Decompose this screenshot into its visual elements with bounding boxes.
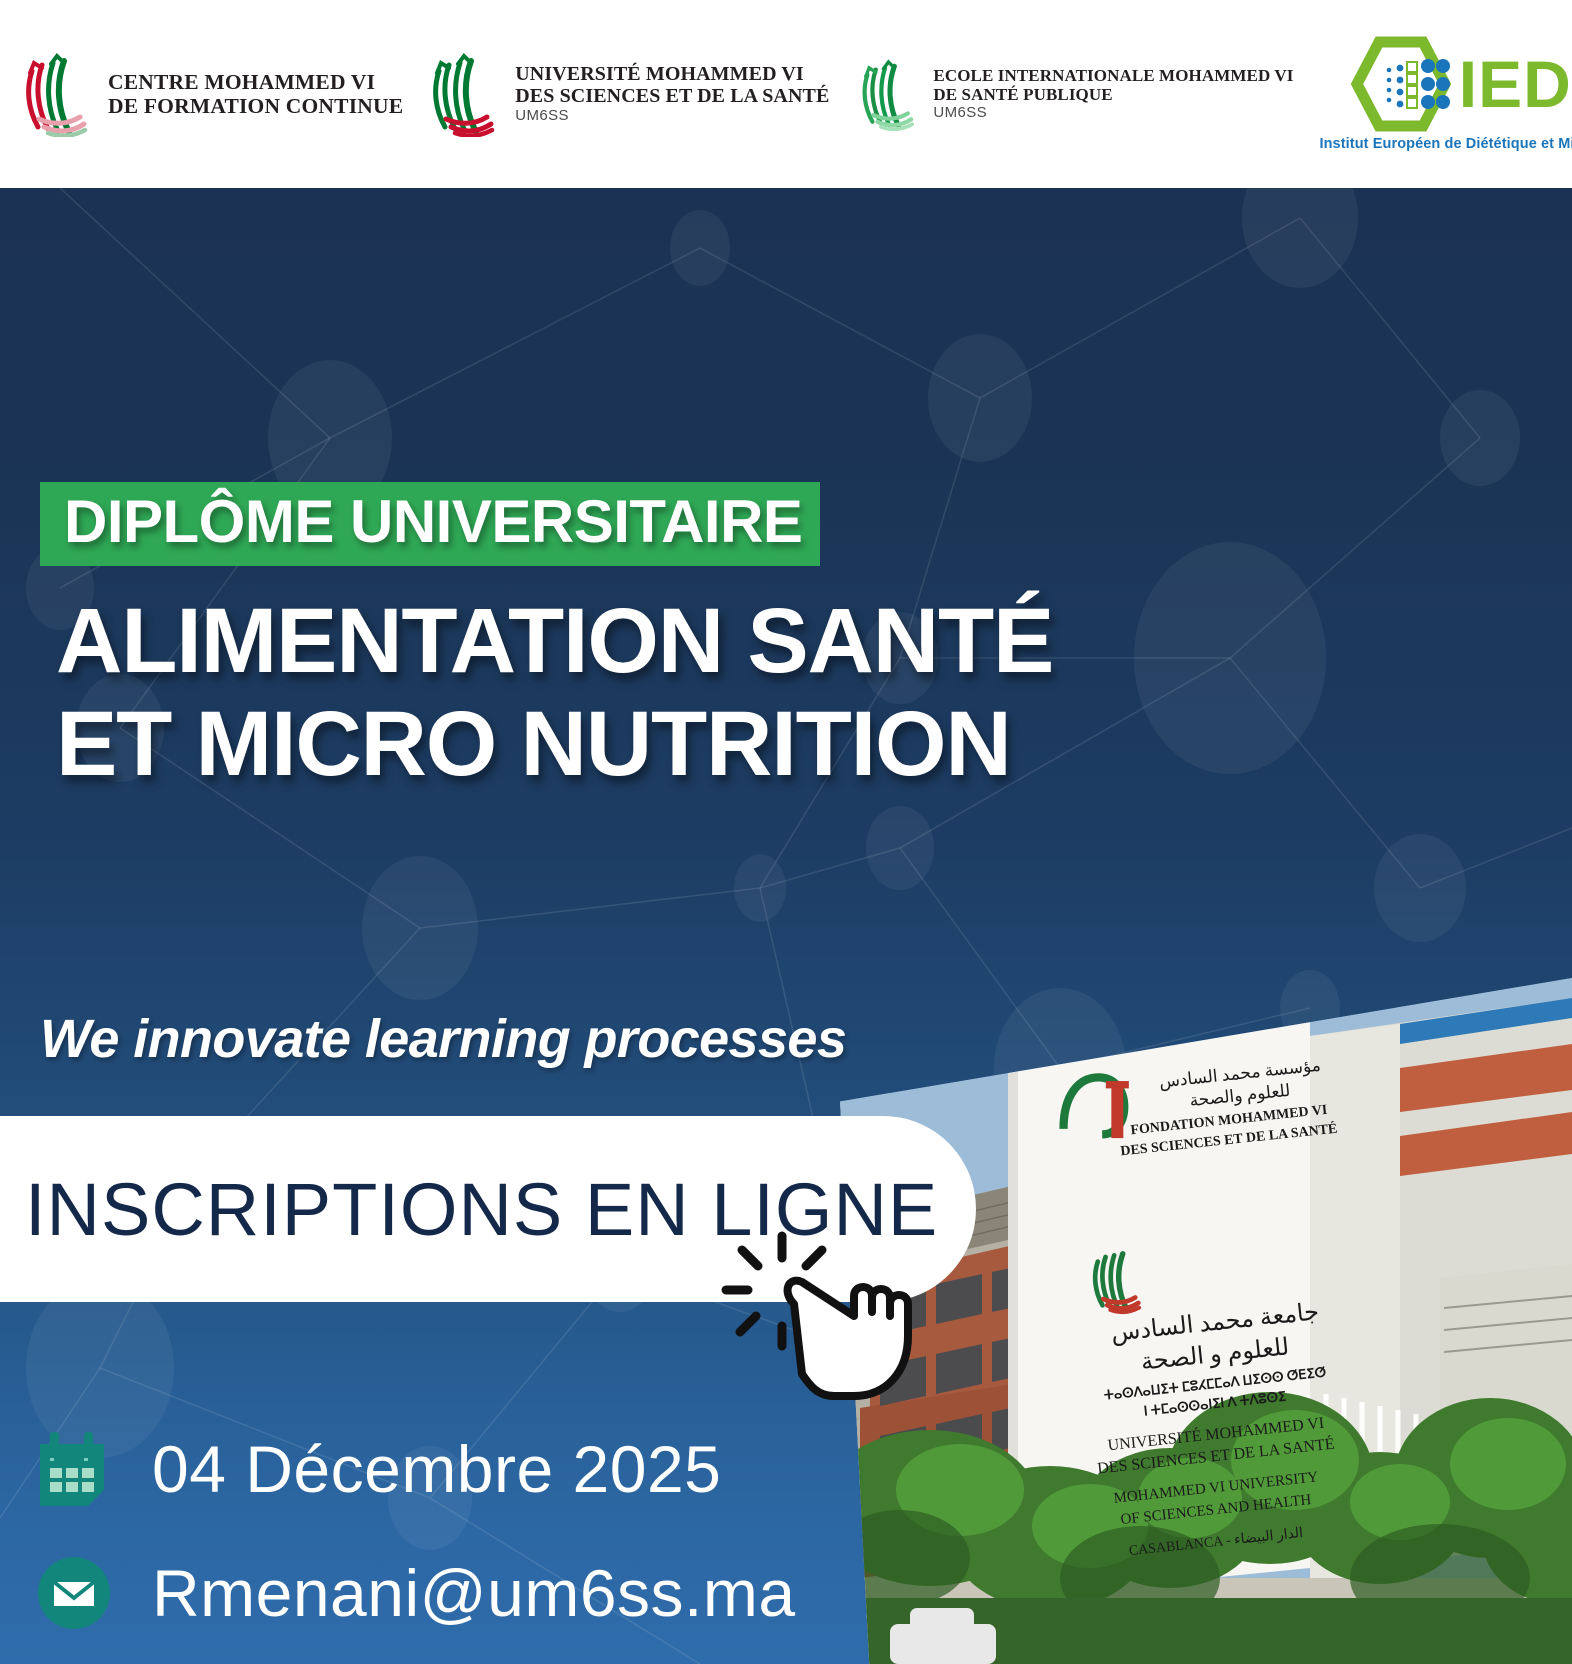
iedm-letter-e: E — [1478, 47, 1523, 121]
logo-universite-mohammed-vi: UNIVERSITÉ MOHAMMED VI DES SCIENCES ET D… — [429, 51, 829, 137]
calendar-icon — [36, 1428, 112, 1510]
page-title: ALIMENTATION SANTÉ ET MICRO NUTRITION — [56, 590, 1236, 796]
logo-iedm: IEDM Institut Européen de Diététique et … — [1319, 36, 1572, 152]
contact-email: Rmenani@um6ss.ma — [152, 1555, 796, 1631]
logo-line-2: DES SCIENCES ET DE LA SANTÉ — [515, 85, 829, 107]
diploma-badge: DIPLÔME UNIVERSITAIRE — [40, 482, 820, 566]
moroccan-swoosh-icon — [859, 56, 923, 132]
hexagon-dots-icon — [1349, 36, 1453, 132]
event-date: 04 Décembre 2025 — [152, 1431, 721, 1507]
logo-line-1: ECOLE INTERNATIONALE MOHAMMED VI — [933, 66, 1293, 85]
logo-line-1: CENTRE MOHAMMED VI — [108, 70, 403, 94]
logo-centre-formation-continue-text: CENTRE MOHAMMED VI DE FORMATION CONTINUE — [108, 70, 403, 118]
logo-centre-formation-continue: CENTRE MOHAMMED VI DE FORMATION CONTINUE — [22, 51, 403, 137]
logo-line-1: UNIVERSITÉ MOHAMMED VI — [515, 63, 829, 85]
iedm-letter-d: D — [1523, 47, 1572, 121]
logo-iedm-wordmark: IEDM — [1459, 51, 1572, 117]
poster-body: مؤسسة محمد السادس للعلوم والصحة FONDATIO… — [0, 188, 1572, 1664]
moroccan-swoosh-icon — [429, 51, 505, 137]
contact-row-date: 04 Décembre 2025 — [36, 1428, 796, 1510]
logo-subtitle: UM6SS — [515, 108, 829, 125]
logo-iedm-row: IEDM — [1349, 36, 1572, 132]
slogan: We innovate learning processes — [40, 1008, 846, 1070]
partner-logo-bar: CENTRE MOHAMMED VI DE FORMATION CONTINUE — [0, 0, 1572, 188]
logo-iedm-tagline: Institut Européen de Diététique et Micro… — [1319, 136, 1572, 152]
page-title-line-2: ET MICRO NUTRITION — [56, 693, 1236, 796]
logo-ecole-sante-publique: ECOLE INTERNATIONALE MOHAMMED VI DE SANT… — [859, 56, 1293, 132]
contact-row-email[interactable]: Rmenani@um6ss.ma — [36, 1552, 796, 1634]
logo-line-2: DE SANTÉ PUBLIQUE — [933, 85, 1293, 104]
diploma-badge-label: DIPLÔME UNIVERSITAIRE — [64, 492, 802, 552]
moroccan-swoosh-icon — [22, 51, 98, 137]
logo-line-2: DE FORMATION CONTINUE — [108, 94, 403, 118]
page-title-line-1: ALIMENTATION SANTÉ — [56, 590, 1236, 693]
logo-universite-mohammed-vi-text: UNIVERSITÉ MOHAMMED VI DES SCIENCES ET D… — [515, 63, 829, 126]
university-building-photo: مؤسسة محمد السادس للعلوم والصحة FONDATIO… — [840, 978, 1572, 1664]
contact-block: 04 Décembre 2025 Rmenani@um6ss.ma — [36, 1428, 796, 1664]
poster: CENTRE MOHAMMED VI DE FORMATION CONTINUE — [0, 0, 1572, 1664]
envelope-icon — [36, 1552, 112, 1634]
iedm-letter-i: I — [1459, 47, 1478, 121]
hand-pointer-icon — [718, 1224, 928, 1404]
click-cursor-illustration — [718, 1224, 928, 1404]
logo-ecole-sante-publique-text: ECOLE INTERNATIONALE MOHAMMED VI DE SANT… — [933, 66, 1293, 122]
logo-subtitle: UM6SS — [933, 105, 1293, 122]
